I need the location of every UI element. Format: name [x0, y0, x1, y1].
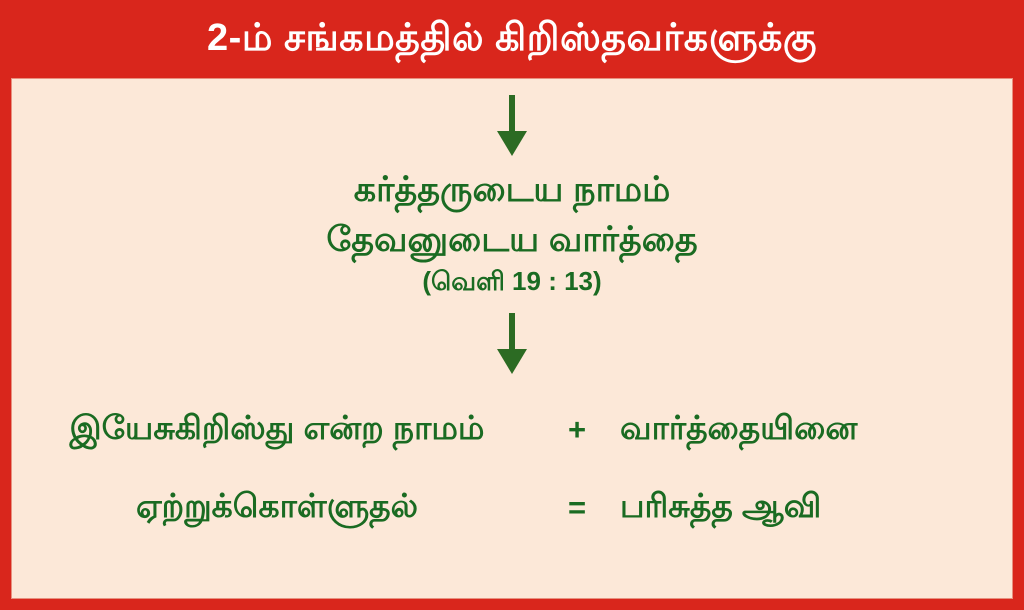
slide-root: 2-ம் சங்கமத்தில் கிறிஸ்தவர்களுக்கு கர்த்…	[0, 0, 1024, 610]
heading-line-1: கர்த்தருடைய நாமம்	[12, 165, 1012, 215]
down-arrow-icon-top	[12, 95, 1012, 157]
equation-row: இயேசுகிறிஸ்து என்ற நாமம் + வார்த்தையினை	[12, 391, 1012, 469]
equation-row-1-operator: +	[542, 412, 612, 448]
equation-block: இயேசுகிறிஸ்து என்ற நாமம் + வார்த்தையினை …	[12, 391, 1012, 547]
equation-row-1-left-term: இயேசுகிறிஸ்து என்ற நாமம்	[12, 409, 542, 452]
heading-line-2: தேவனுடைய வார்த்தை	[12, 215, 1012, 265]
title-banner: 2-ம் சங்கமத்தில் கிறிஸ்தவர்களுக்கு	[0, 0, 1024, 78]
down-arrow-icon-bottom	[12, 313, 1012, 375]
scripture-reference: (வெளி 19 : 13)	[12, 266, 1012, 297]
page-title: 2-ம் சங்கமத்தில் கிறிஸ்தவர்களுக்கு	[207, 18, 817, 60]
equation-row-2-left-term: ஏற்றுக்கொள்ளுதல்	[12, 487, 542, 530]
equation-row-1-right-term: வார்த்தையினை	[612, 409, 1012, 452]
equation-row-2-right-term: பரிசுத்த ஆவி	[612, 487, 1012, 530]
equation-row: ஏற்றுக்கொள்ளுதல் = பரிசுத்த ஆவி	[12, 469, 1012, 547]
central-heading-block: கர்த்தருடைய நாமம் தேவனுடைய வார்த்தை (வெள…	[12, 165, 1012, 297]
content-panel-inner: கர்த்தருடைய நாமம் தேவனுடைய வார்த்தை (வெள…	[12, 79, 1012, 598]
equation-row-2-operator: =	[542, 490, 612, 526]
content-panel: கர்த்தருடைய நாமம் தேவனுடைய வார்த்தை (வெள…	[11, 78, 1013, 599]
